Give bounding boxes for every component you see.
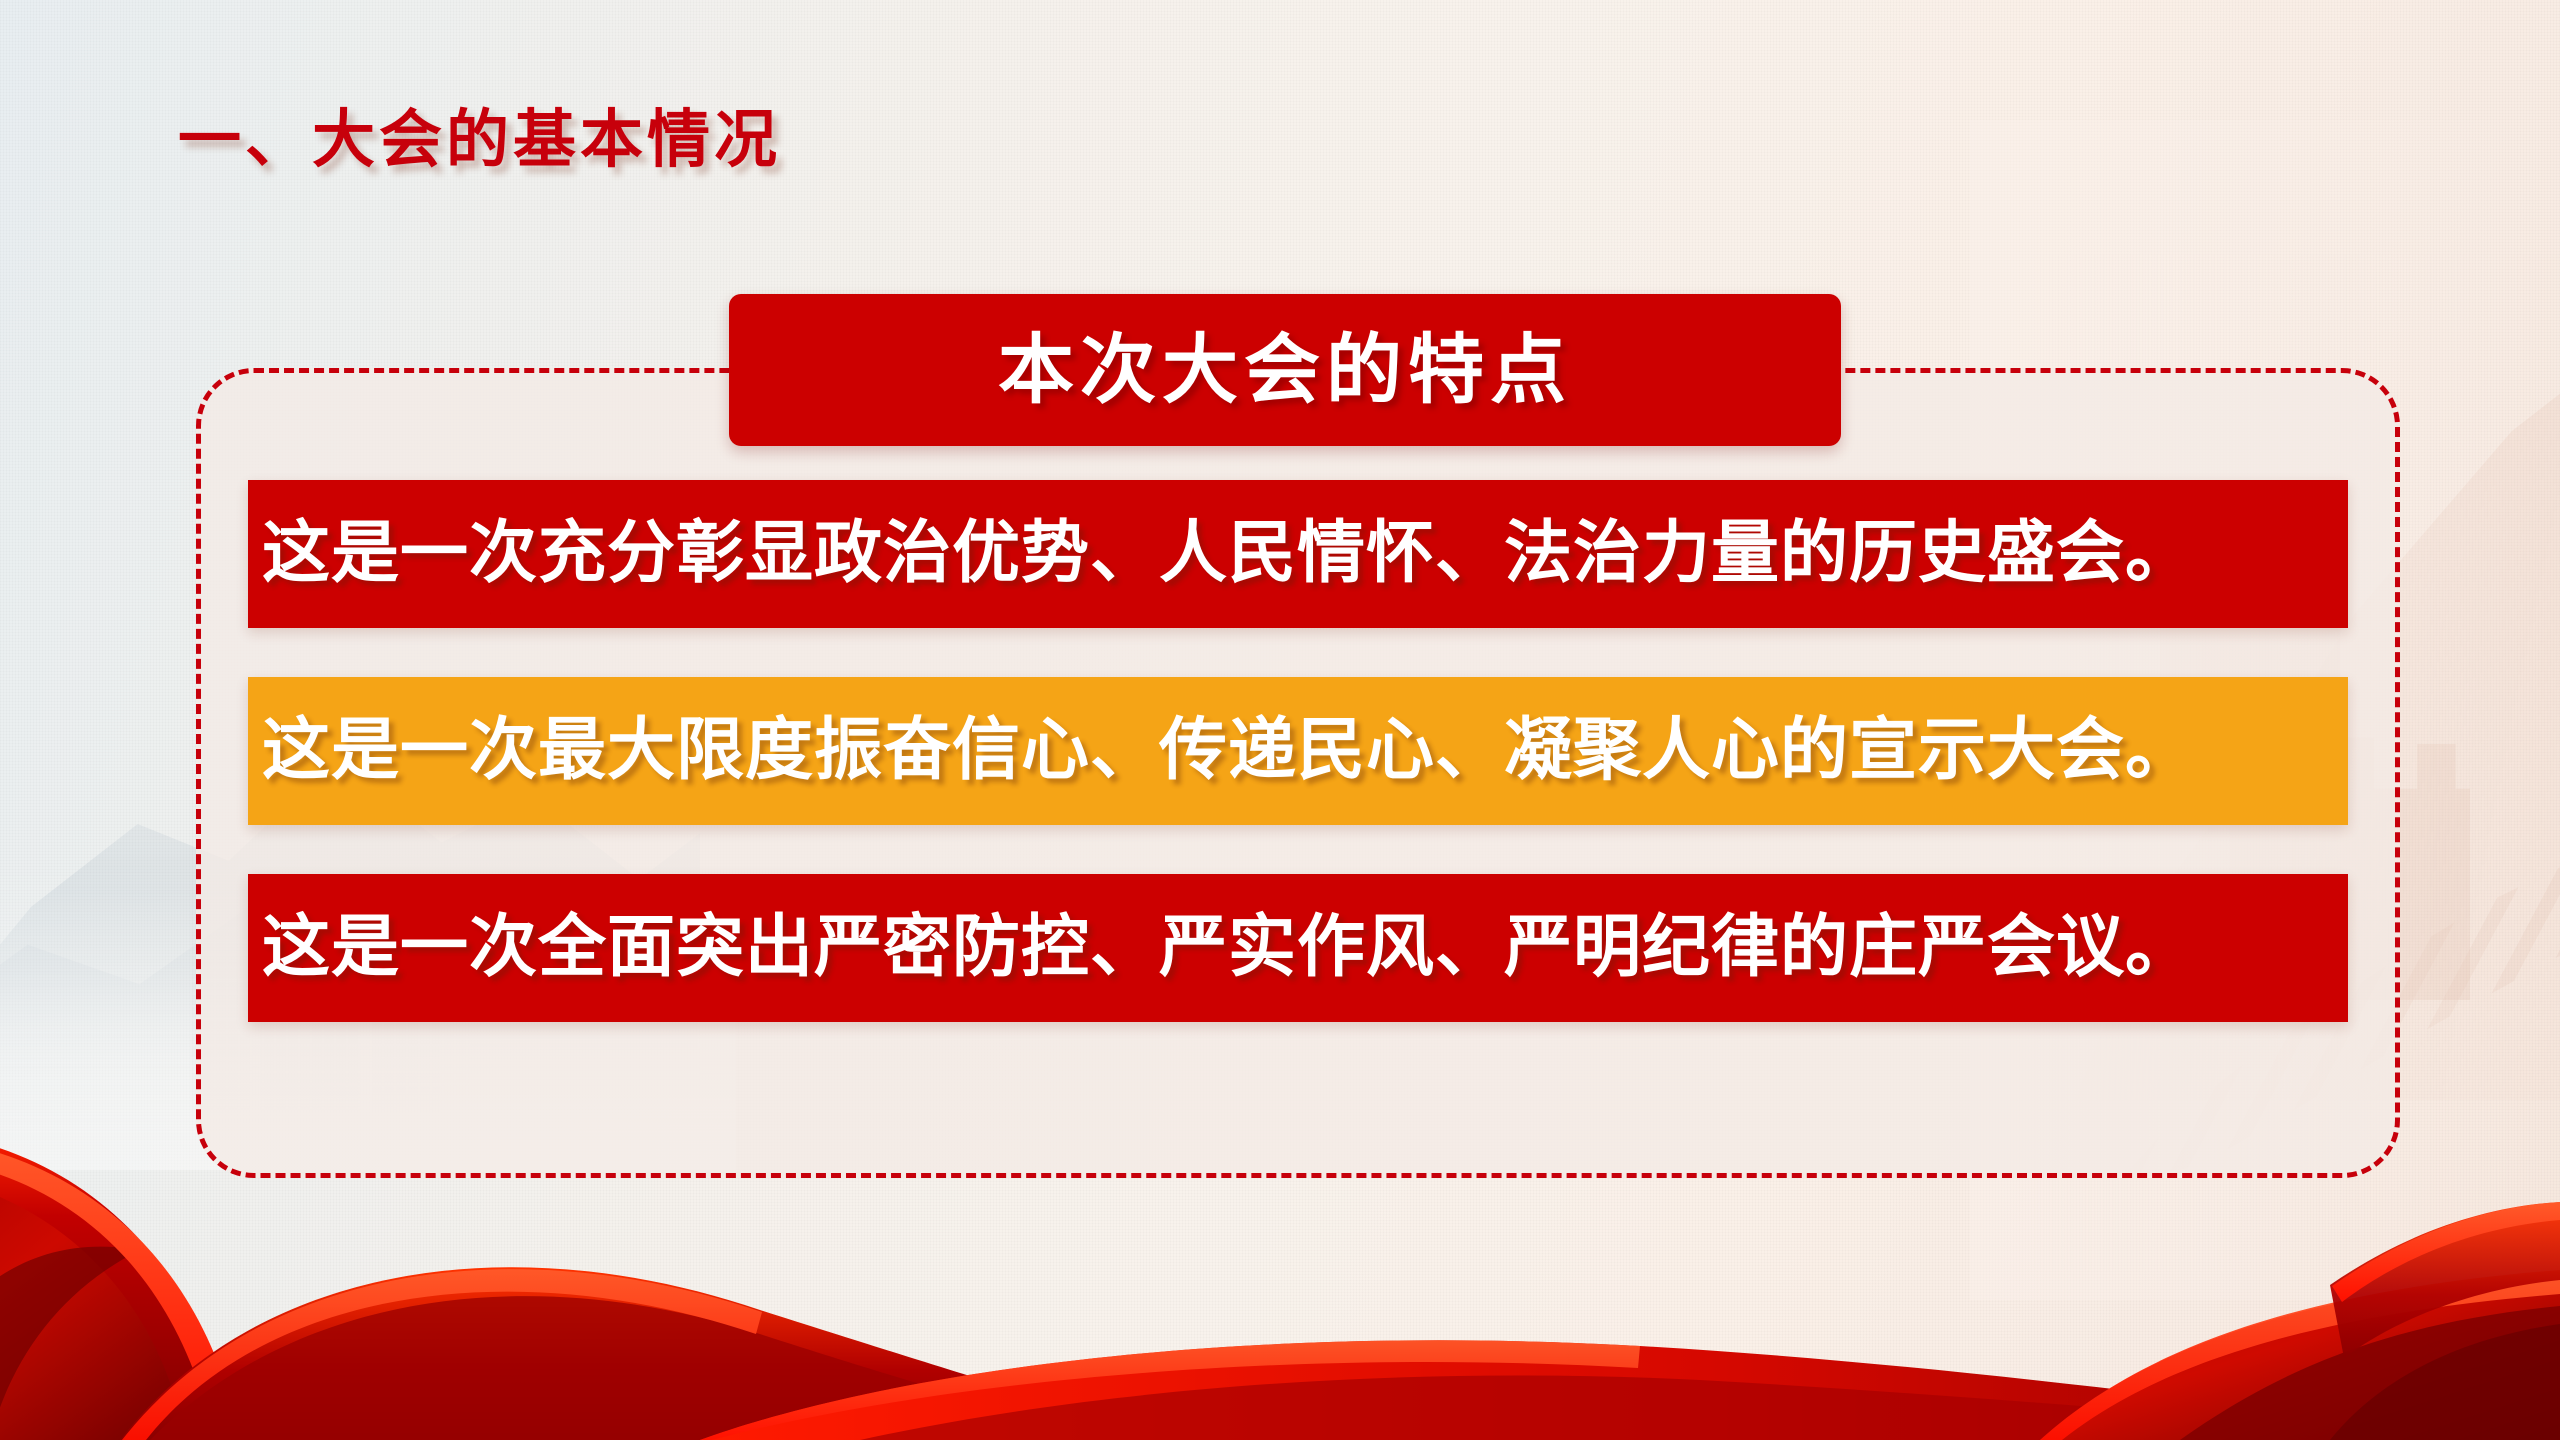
banner-title-label: 本次大会的特点: [998, 332, 1572, 408]
feature-bar-2-label: 这是一次最大限度振奋信心、传递民心、凝聚人心的宣示大会。: [262, 717, 2194, 785]
feature-bar-list: 这是一次充分彰显政治优势、人民情怀、法治力量的历史盛会。 这是一次最大限度振奋信…: [248, 480, 2348, 1022]
feature-bar-1: 这是一次充分彰显政治优势、人民情怀、法治力量的历史盛会。: [248, 480, 2348, 628]
feature-bar-1-label: 这是一次充分彰显政治优势、人民情怀、法治力量的历史盛会。: [262, 520, 2194, 588]
feature-bar-3: 这是一次全面突出严密防控、严实作风、严明纪律的庄严会议。: [248, 874, 2348, 1022]
presentation-slide: 一、大会的基本情况 本次大会的特点 这是一次充分彰显政治优势、人民情怀、法治力量…: [0, 0, 2560, 1440]
feature-bar-3-label: 这是一次全面突出严密防控、严实作风、严明纪律的庄严会议。: [262, 914, 2194, 982]
feature-bar-2: 这是一次最大限度振奋信心、传递民心、凝聚人心的宣示大会。: [248, 677, 2348, 825]
banner-header: 本次大会的特点: [729, 294, 1841, 446]
page-title: 一、大会的基本情况: [178, 108, 781, 171]
